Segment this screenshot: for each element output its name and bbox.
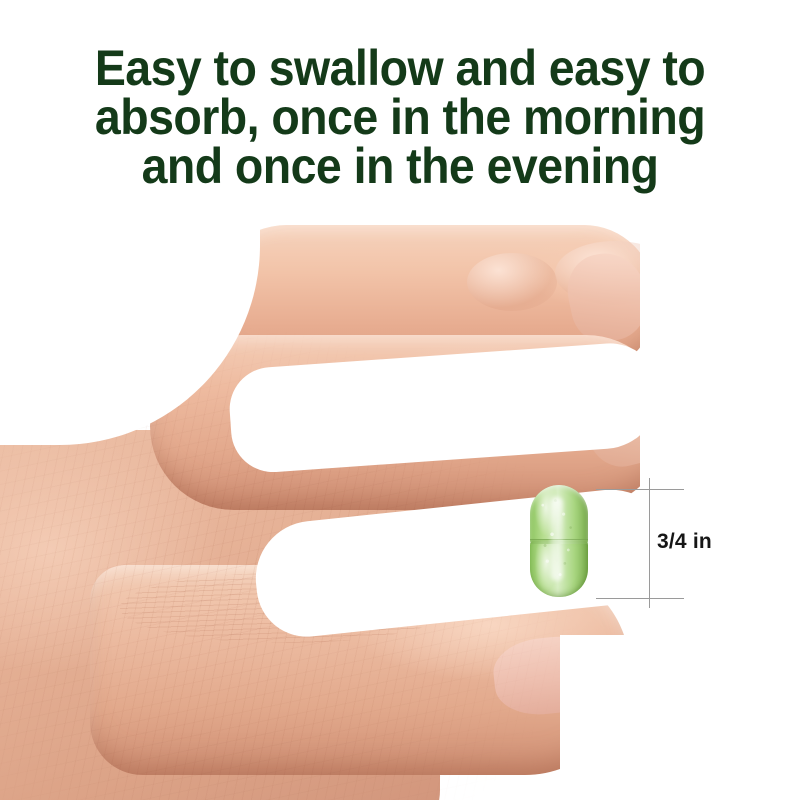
headline-line-2: absorb, once in the morning (28, 93, 772, 142)
background-mask-bottomright (560, 635, 760, 800)
capsule-cap (530, 485, 588, 544)
hand-photo (0, 205, 700, 800)
knuckle (467, 253, 557, 311)
headline: Easy to swallow and easy to absorb, once… (0, 44, 800, 191)
headline-line-3: and once in the evening (28, 142, 772, 191)
background-mask-right (640, 205, 760, 625)
green-capsule (530, 485, 588, 597)
headline-line-1: Easy to swallow and easy to (28, 44, 772, 93)
capsule-body (530, 541, 588, 597)
capsule-seam (530, 539, 588, 544)
product-marketing-image: Easy to swallow and easy to absorb, once… (0, 0, 800, 800)
